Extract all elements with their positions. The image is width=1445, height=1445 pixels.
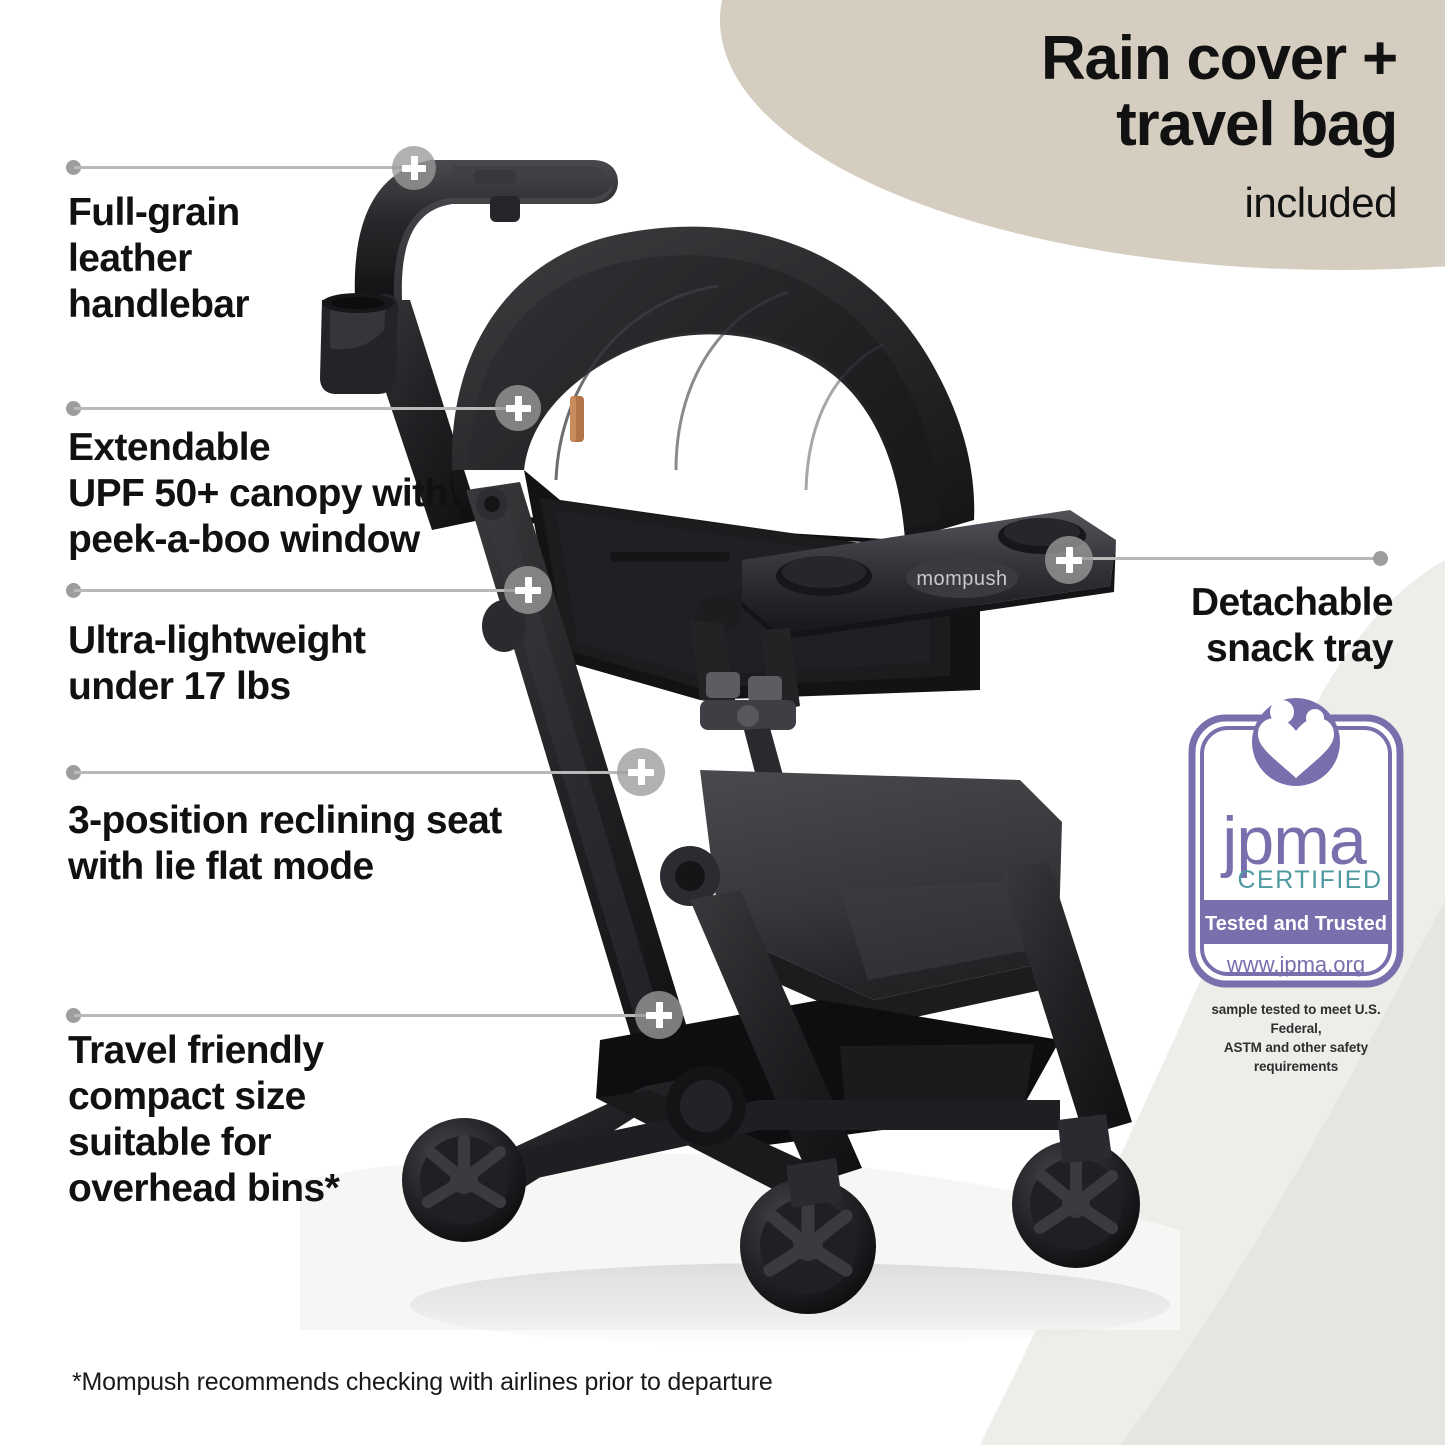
marker-snack-tray[interactable] <box>1045 536 1093 584</box>
page-title: Rain cover + travel bag <box>1041 26 1397 157</box>
marker-compact-size[interactable] <box>635 991 683 1039</box>
svg-text:Tested and Trusted: Tested and Trusted <box>1205 913 1387 935</box>
plus-vertical-bar <box>411 156 418 180</box>
plus-vertical-bar <box>515 396 522 421</box>
leader-line-lightweight <box>74 589 534 592</box>
jpma-certification-badge: jpma CERTIFIED Tested and Trusted www.jp… <box>1188 696 1404 1006</box>
leader-line-canopy <box>74 407 524 410</box>
leader-line-snack-tray <box>1069 557 1380 560</box>
marker-reclining-seat[interactable] <box>617 748 665 796</box>
plus-vertical-bar <box>638 759 645 785</box>
plus-vertical-bar <box>1066 547 1073 573</box>
footnote-text: *Mompush recommends checking with airlin… <box>72 1368 773 1397</box>
marker-lightweight[interactable] <box>504 566 552 614</box>
feature-label-compact-size: Travel friendly compact size suitable fo… <box>68 1028 339 1212</box>
marker-handlebar[interactable] <box>392 146 436 190</box>
leader-line-handlebar <box>74 166 419 169</box>
feature-label-reclining-seat: 3-position reclining seat with lie flat … <box>68 798 502 890</box>
feature-label-canopy: Extendable UPF 50+ canopy with peek-a-bo… <box>68 425 448 563</box>
feature-label-snack-tray: Detachable snack tray <box>1191 580 1393 672</box>
leader-line-reclining-seat <box>74 771 646 774</box>
leader-line-compact-size <box>74 1014 664 1017</box>
feature-label-lightweight: Ultra-lightweight under 17 lbs <box>68 618 365 710</box>
plus-vertical-bar <box>525 577 532 603</box>
svg-text:www.jpma.org: www.jpma.org <box>1226 952 1365 977</box>
feature-label-handlebar: Full-grain leather handlebar <box>68 190 249 328</box>
infographic-canvas: Rain cover + travel bag included <box>0 0 1445 1445</box>
leader-dot-snack-tray <box>1373 551 1388 566</box>
jpma-disclaimer: sample tested to meet U.S. Federal, ASTM… <box>1188 1000 1404 1077</box>
header-subtitle: included <box>1245 179 1397 227</box>
header: Rain cover + travel bag included <box>685 0 1445 270</box>
plus-vertical-bar <box>656 1002 663 1028</box>
svg-text:CERTIFIED: CERTIFIED <box>1238 866 1383 894</box>
svg-text:mompush: mompush <box>916 568 1007 590</box>
marker-canopy[interactable] <box>495 385 541 431</box>
